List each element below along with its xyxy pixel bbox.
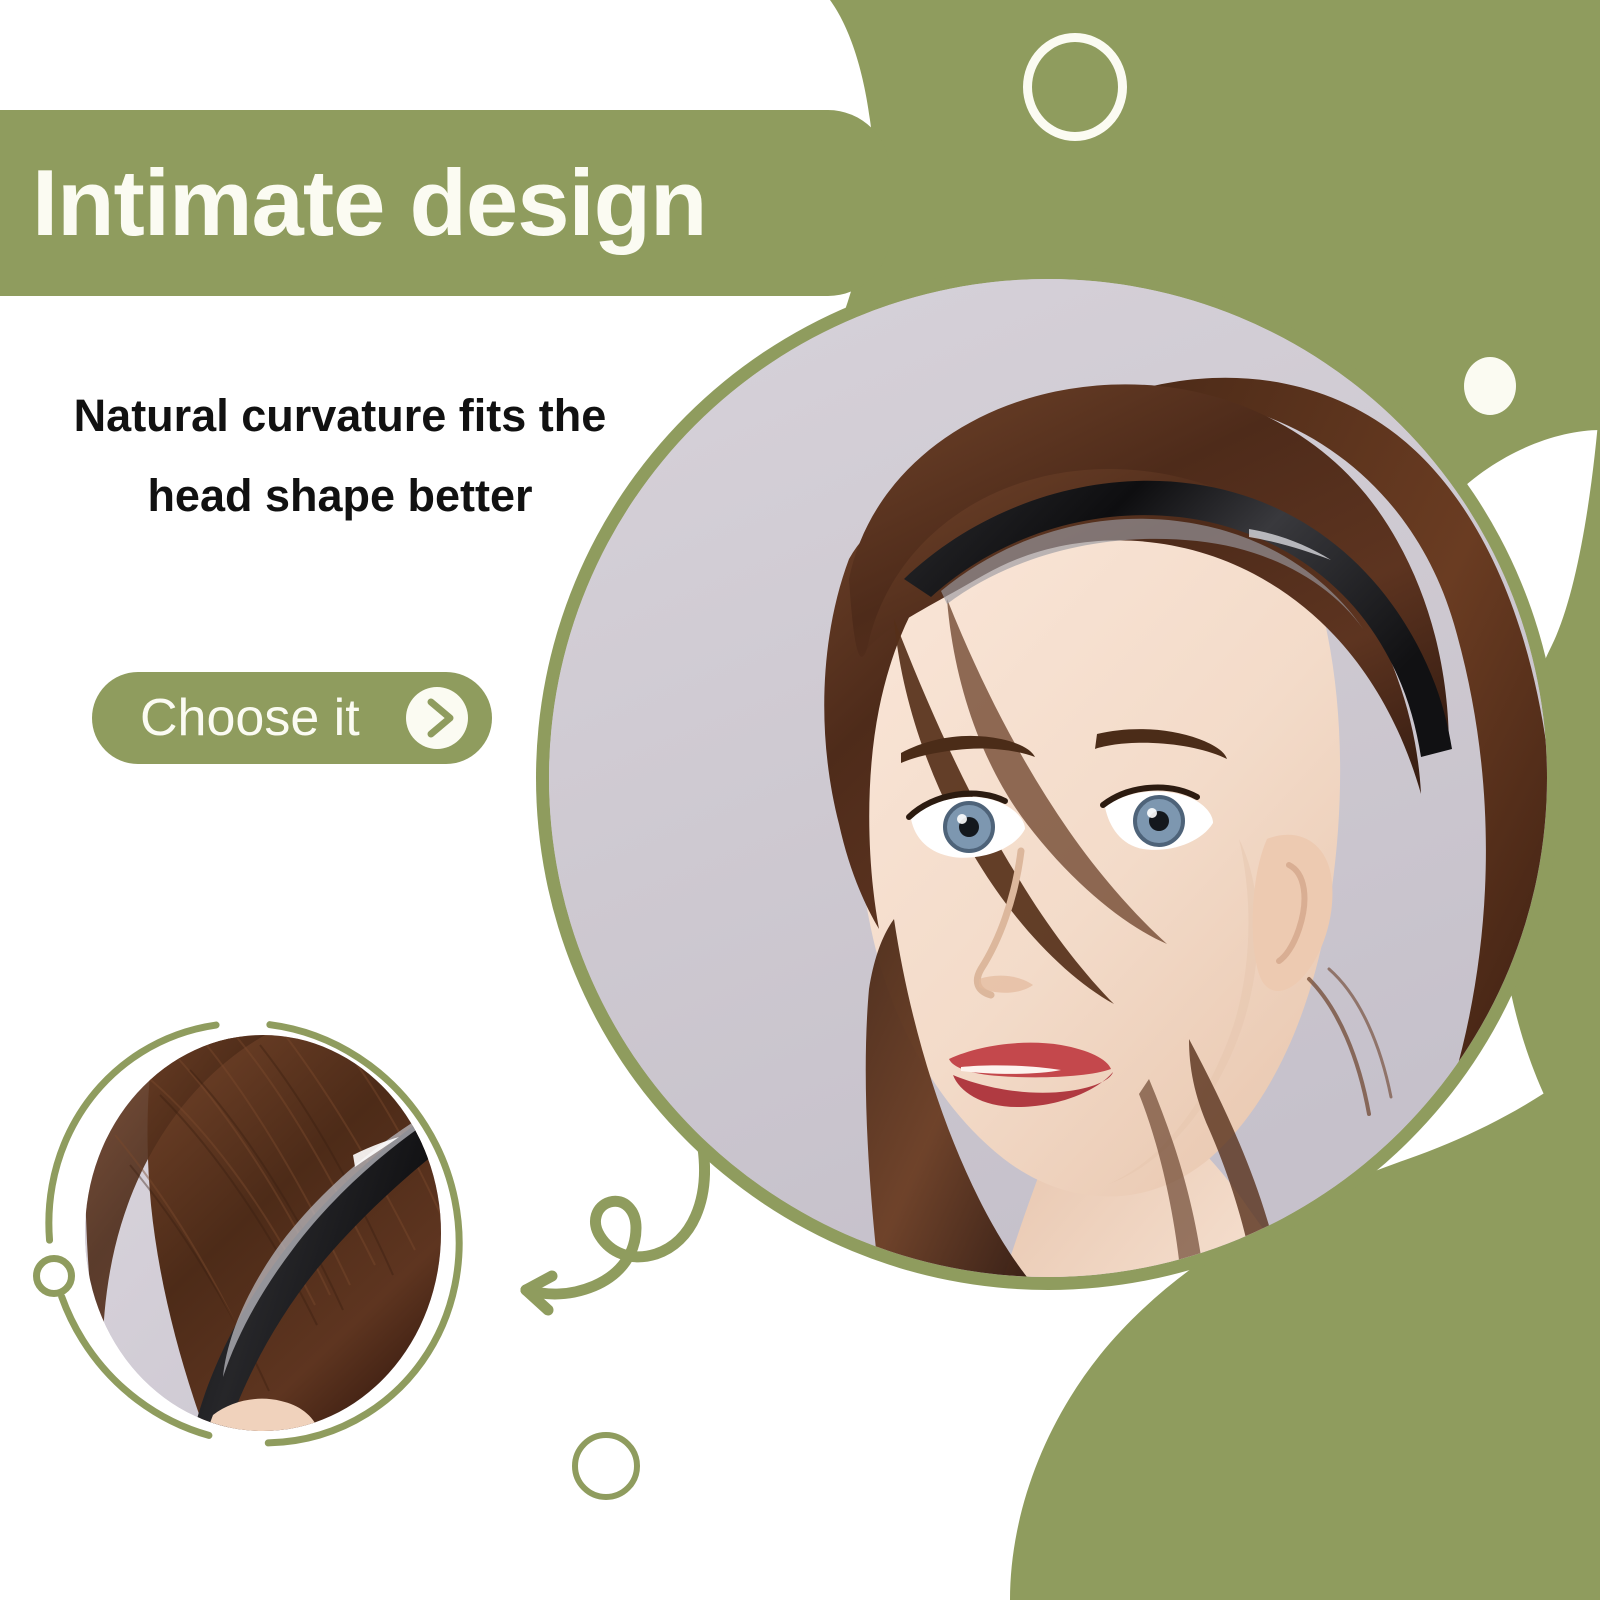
circle-outline-icon (1023, 33, 1127, 141)
circle-outline-icon (572, 1432, 640, 1500)
choose-it-button-label: Choose it (140, 688, 360, 748)
choose-it-button[interactable]: Choose it (92, 672, 492, 764)
curly-arrow-icon (460, 1140, 710, 1340)
small-circle-outline-icon (33, 1255, 75, 1297)
dashed-circle-icon (44, 1012, 464, 1454)
subtitle-line-2: head shape better (0, 456, 680, 536)
product-marketing-poster: Intimate design Natural curvature fits t… (0, 0, 1600, 1600)
subtitle-text: Natural curvature fits the head shape be… (0, 376, 680, 536)
chevron-right-circle-icon (406, 687, 468, 749)
title-banner: Intimate design (0, 110, 890, 296)
subtitle-line-1: Natural curvature fits the (0, 376, 680, 456)
dot-icon (1464, 357, 1516, 415)
page-title: Intimate design (32, 156, 706, 250)
hero-photo (549, 279, 1547, 1277)
